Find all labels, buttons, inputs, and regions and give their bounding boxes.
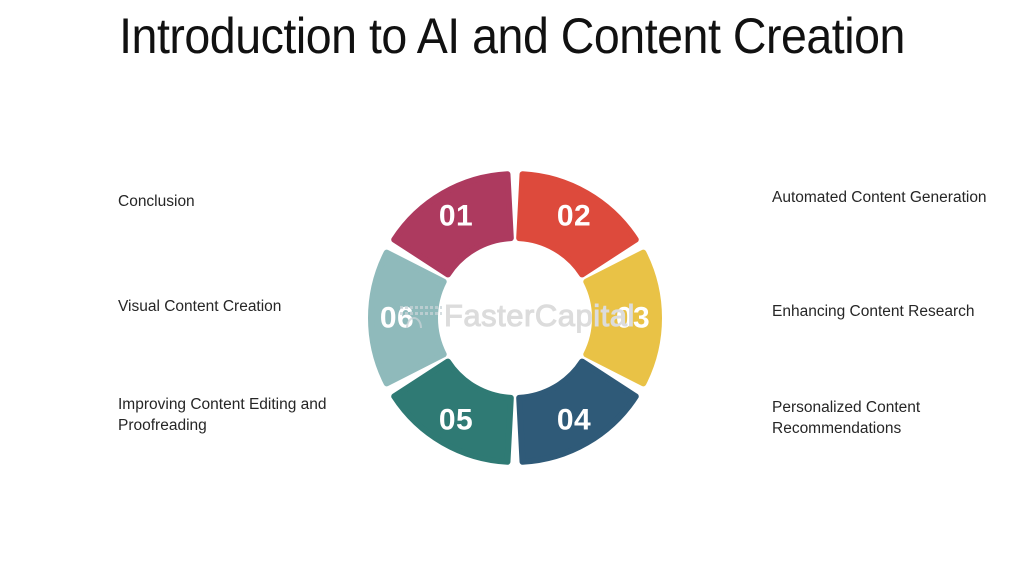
- donut-segment-number: 04: [557, 404, 591, 437]
- donut-segment-number: 05: [439, 404, 473, 437]
- slide-canvas: Introduction to AI and Content Creation …: [0, 0, 1024, 575]
- legend-item-label: Enhancing Content Research: [772, 278, 975, 323]
- donut-segment-number: 02: [557, 199, 591, 232]
- legend-item-label: Conclusion: [118, 168, 195, 213]
- legend-item-label: Visual Content Creation: [118, 273, 281, 318]
- legend-item-label: Personalized Content Recommendations: [772, 383, 1022, 439]
- hexagon-icon: [38, 273, 100, 343]
- legend-item-automated-content-generation[interactable]: Automated Content Generation: [692, 173, 987, 245]
- legend-item-visual-content-creation[interactable]: Visual Content Creation: [38, 273, 281, 345]
- legend-item-label: Improving Content Editing and Proofreadi…: [118, 380, 368, 436]
- hexagon-icon: [692, 278, 754, 348]
- page-title: Introduction to AI and Content Creation: [36, 8, 988, 66]
- donut-chart: 010203040506: [368, 171, 662, 465]
- hexagon-icon: [692, 383, 754, 453]
- donut-segment-number: 01: [439, 199, 473, 232]
- donut-segment-number: 06: [380, 302, 414, 335]
- legend-item-personalized-content-recommendations[interactable]: Personalized Content Recommendations: [692, 383, 1022, 455]
- hexagon-icon: [38, 168, 100, 238]
- hexagon-icon: [692, 173, 754, 243]
- hexagon-icon: [38, 380, 100, 450]
- donut-segment-number: 03: [616, 302, 650, 335]
- legend-item-improving-content-editing[interactable]: Improving Content Editing and Proofreadi…: [38, 380, 368, 452]
- donut-center-hole: [439, 242, 591, 394]
- legend-item-enhancing-content-research[interactable]: Enhancing Content Research: [692, 278, 975, 350]
- legend-item-conclusion[interactable]: Conclusion: [38, 168, 195, 240]
- legend-item-label: Automated Content Generation: [772, 173, 987, 209]
